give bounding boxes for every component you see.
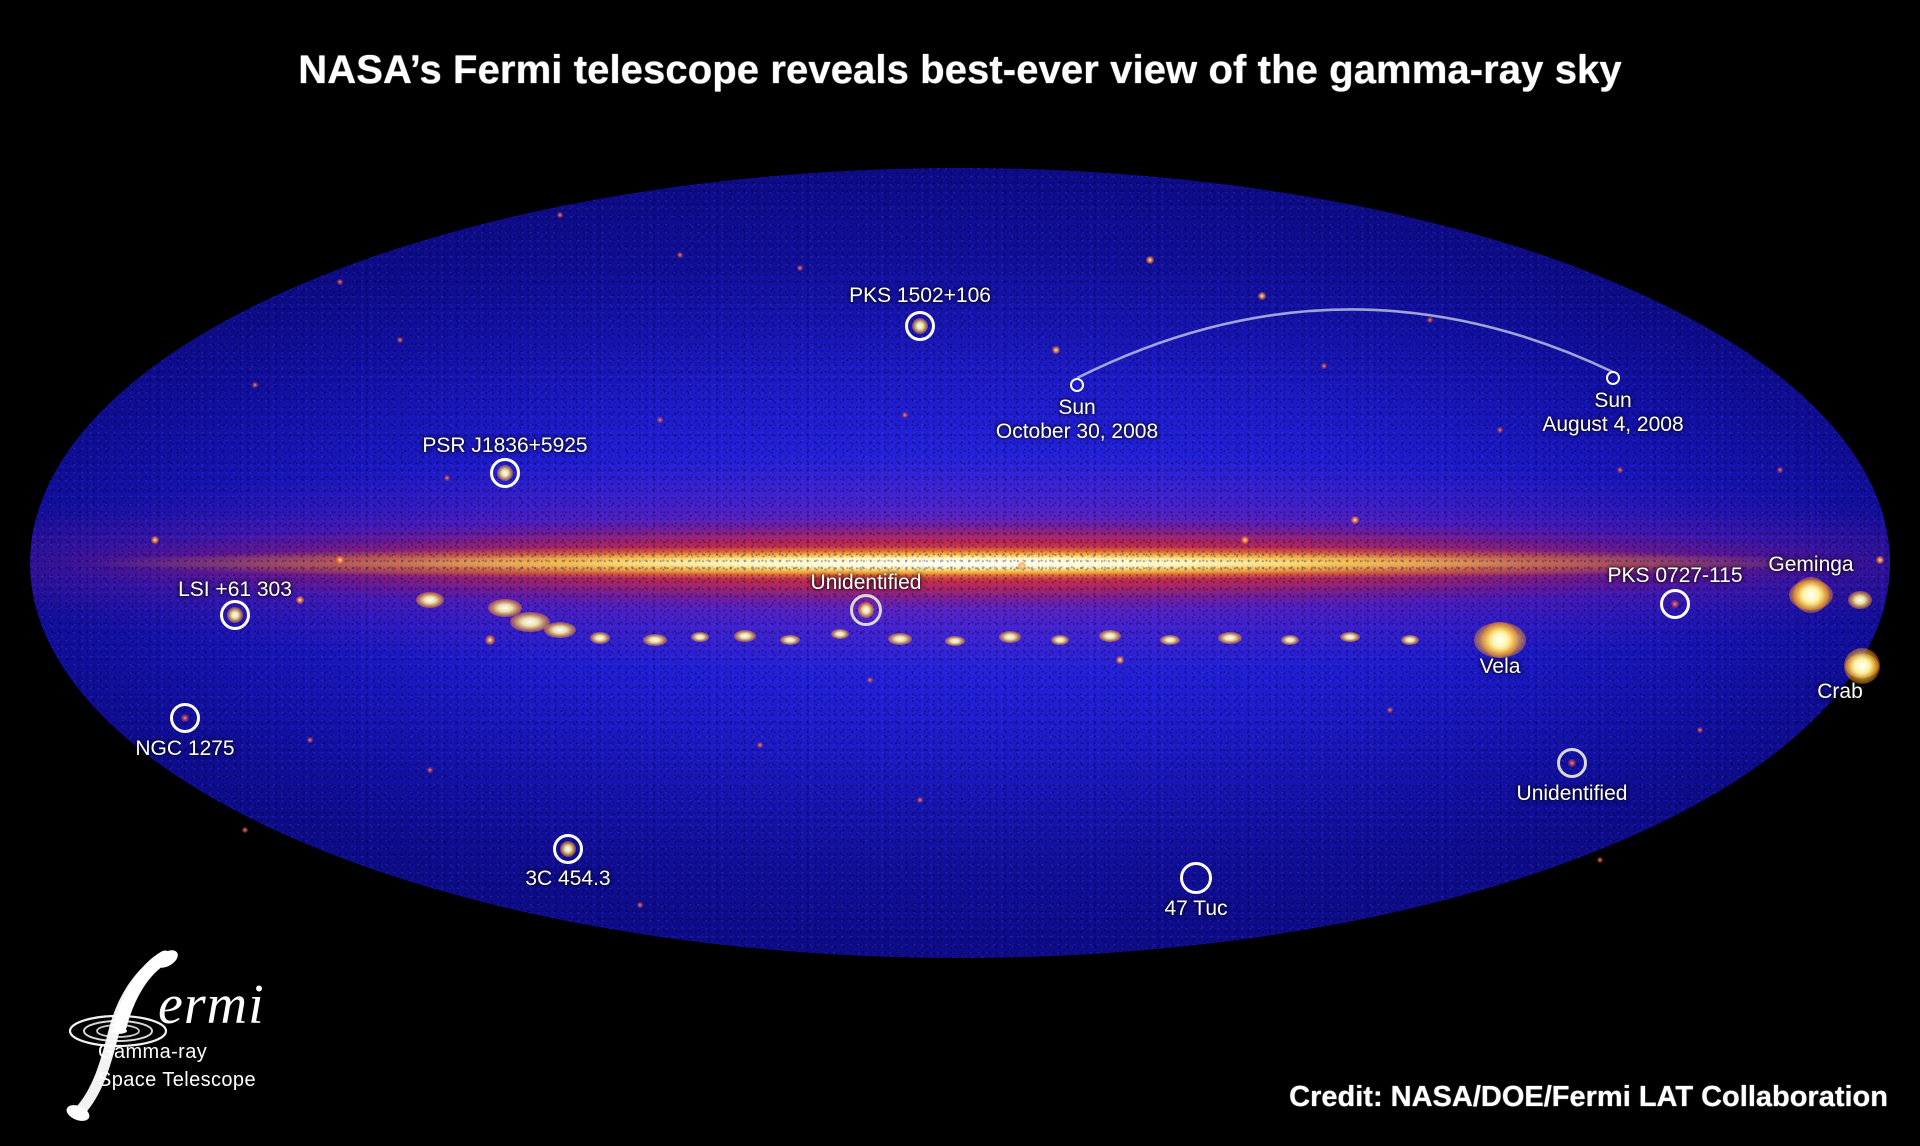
gamma-ray-source [1597, 857, 1603, 863]
fermi-subtitle-line1: Gamma-ray [98, 1041, 207, 1064]
source-label-line1: NGC 1275 [135, 737, 234, 760]
gamma-ray-source [444, 475, 450, 481]
source-label-unidentified-2: Unidentified [1517, 782, 1628, 806]
gamma-ray-source [677, 252, 683, 258]
gamma-ray-source [1848, 591, 1872, 609]
gamma-ray-source [999, 631, 1021, 643]
source-label-line1: Sun [1594, 389, 1631, 412]
gamma-ray-source [1793, 577, 1829, 613]
source-label-line1: Unidentified [1517, 782, 1628, 805]
gamma-ray-source [1052, 346, 1060, 354]
gamma-ray-source [488, 599, 522, 617]
source-label-unidentified-1: Unidentified [811, 571, 922, 595]
source-label-47-tuc: 47 Tuc [1164, 897, 1227, 921]
gamma-ray-source [831, 629, 849, 639]
gamma-ray-source [1845, 654, 1879, 678]
gamma-ray-source [945, 636, 965, 646]
gamma-ray-source [1018, 562, 1026, 570]
gamma-ray-source [797, 265, 803, 271]
gamma-ray-source [296, 596, 304, 604]
gamma-ray-source [780, 635, 800, 645]
gamma-ray-source [557, 212, 563, 218]
gamma-ray-source [1051, 635, 1069, 645]
gamma-ray-source [416, 592, 444, 608]
gamma-ray-source [1497, 427, 1503, 433]
gamma-ray-source [1340, 632, 1360, 642]
source-label-line1: PSR J1836+5925 [422, 434, 587, 457]
gamma-ray-source [1099, 630, 1121, 642]
gamma-ray-source [1697, 727, 1703, 733]
source-marker-unidentified-1[interactable] [850, 594, 882, 626]
gamma-ray-source [657, 417, 663, 423]
source-label-geminga: Geminga [1768, 553, 1853, 577]
gamma-ray-source [1482, 622, 1518, 658]
source-label-line1: PKS 0727-115 [1607, 564, 1742, 587]
source-marker-lsi-61-303[interactable] [220, 600, 250, 630]
source-marker-sun-october[interactable] [1070, 378, 1084, 392]
page-title: NASA’s Fermi telescope reveals best-ever… [0, 48, 1920, 93]
source-label-line1: Crab [1817, 680, 1863, 703]
source-marker-ngc-1275[interactable] [170, 703, 200, 733]
gamma-ray-source [1218, 632, 1242, 644]
gamma-ray-source [1617, 467, 1623, 473]
source-label-lsi-61-303: LSI +61 303 [178, 578, 292, 602]
source-label-line1: Vela [1480, 655, 1521, 678]
credit-line: Credit: NASA/DOE/Fermi LAT Collaboration [1289, 1081, 1888, 1114]
poster-root: NASA’s Fermi telescope reveals best-ever… [0, 0, 1920, 1146]
gamma-ray-source [427, 767, 433, 773]
gamma-ray-source [1241, 536, 1249, 544]
gamma-ray-source [544, 622, 576, 638]
fermi-logo: ermi Gamma-ray Space Telescope [62, 945, 322, 1130]
source-label-sun-august: SunAugust 4, 2008 [1542, 389, 1683, 436]
gamma-ray-source [1789, 580, 1833, 610]
gamma-ray-source [637, 902, 643, 908]
gamma-ray-source [242, 827, 248, 833]
fermi-wordmark: ermi [158, 973, 265, 1037]
gamma-ray-source [1474, 622, 1526, 658]
gamma-ray-source [867, 677, 873, 683]
gamma-ray-source [1844, 648, 1880, 684]
source-label-line1: 3C 454.3 [525, 867, 610, 890]
gamma-ray-source [888, 633, 912, 645]
gamma-ray-source [1116, 656, 1124, 664]
gamma-ray-source [1146, 256, 1154, 264]
gamma-ray-source [1281, 635, 1299, 645]
gamma-ray-source [734, 630, 756, 642]
gamma-ray-source [510, 612, 550, 632]
source-marker-47-tuc[interactable] [1180, 862, 1212, 894]
source-marker-pks-1502[interactable] [905, 311, 935, 341]
gamma-ray-source [252, 382, 258, 388]
gamma-ray-source [397, 337, 403, 343]
gamma-ray-source [336, 556, 344, 564]
source-label-3c-454-3: 3C 454.3 [525, 867, 610, 891]
gamma-ray-source [1351, 516, 1359, 524]
source-label-line1: 47 Tuc [1164, 897, 1227, 920]
source-label-sun-october: SunOctober 30, 2008 [996, 396, 1158, 443]
source-marker-psr-j1836[interactable] [490, 458, 520, 488]
source-label-line2: August 4, 2008 [1542, 413, 1683, 437]
gamma-ray-source [337, 279, 343, 285]
source-label-line1: LSI +61 303 [178, 578, 292, 601]
source-marker-pks-0727-115[interactable] [1660, 589, 1690, 619]
source-label-line1: PKS 1502+106 [849, 284, 991, 307]
source-marker-sun-august[interactable] [1606, 371, 1620, 385]
gamma-ray-source [1387, 707, 1393, 713]
gamma-ray-source [151, 536, 159, 544]
gamma-ray-source [1160, 635, 1180, 645]
source-label-pks-1502: PKS 1502+106 [849, 284, 991, 308]
gamma-ray-source [1777, 467, 1783, 473]
gamma-ray-source [691, 632, 709, 642]
source-marker-3c-454-3[interactable] [553, 834, 583, 864]
source-label-psr-j1836: PSR J1836+5925 [422, 434, 587, 458]
source-label-line2: October 30, 2008 [996, 420, 1158, 444]
source-label-line1: Unidentified [811, 571, 922, 594]
gamma-ray-source [485, 635, 495, 645]
gamma-ray-source [1427, 317, 1433, 323]
gamma-ray-source [307, 737, 313, 743]
gamma-ray-source [1321, 363, 1327, 369]
gamma-ray-source [1876, 556, 1884, 564]
gamma-ray-source [643, 634, 667, 646]
gamma-ray-source [1258, 292, 1266, 300]
fermi-subtitle-line2: Space Telescope [98, 1069, 256, 1092]
gamma-ray-source [902, 412, 908, 418]
source-label-crab: Crab [1817, 680, 1863, 704]
gamma-ray-source [1401, 635, 1419, 645]
source-label-line1: Sun [1058, 396, 1095, 419]
source-label-line1: Geminga [1768, 553, 1853, 576]
gamma-ray-source [917, 797, 923, 803]
gamma-ray-source [590, 632, 610, 644]
source-label-ngc-1275: NGC 1275 [135, 737, 234, 761]
source-marker-unidentified-2[interactable] [1557, 748, 1587, 778]
gamma-ray-source [757, 742, 763, 748]
source-label-pks-0727-115: PKS 0727-115 [1607, 564, 1742, 588]
source-label-vela: Vela [1480, 655, 1521, 679]
